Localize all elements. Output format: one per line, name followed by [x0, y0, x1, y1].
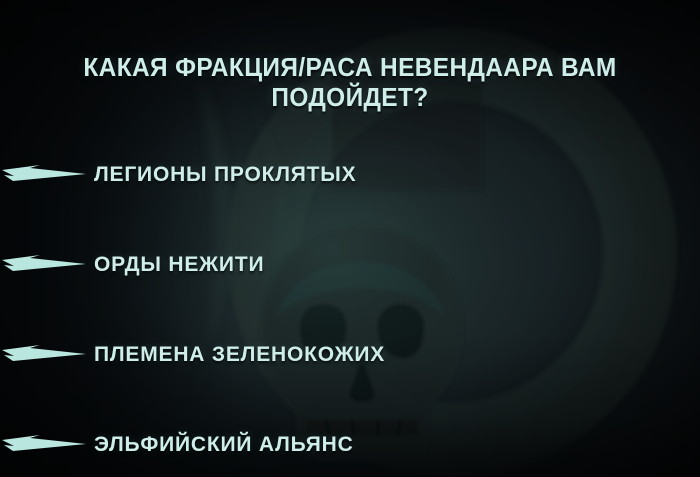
option-item-0[interactable]: ЛЕГИОНЫ ПРОКЛЯТЫХ	[0, 130, 700, 220]
option-item-2[interactable]: ПЛЕМЕНА ЗЕЛЕНОКОЖИХ	[0, 310, 700, 400]
arrow-right-icon	[0, 428, 86, 462]
option-list: ЛЕГИОНЫ ПРОКЛЯТЫХ ОРДЫ НЕЖИТИ ПЛЕМЕНА ЗЕ…	[0, 130, 700, 477]
arrow-right-icon	[0, 248, 86, 282]
arrow-right-icon	[0, 158, 86, 192]
page-title: КАКАЯ ФРАКЦИЯ/РАСА НЕВЕНДААРА ВАМ ПОДОЙД…	[21, 52, 679, 112]
option-label-3: ЭЛЬФИЙСКИЙ АЛЬЯНС	[94, 433, 354, 457]
option-label-0: ЛЕГИОНЫ ПРОКЛЯТЫХ	[94, 163, 356, 187]
option-item-1[interactable]: ОРДЫ НЕЖИТИ	[0, 220, 700, 310]
quiz-poster: КАКАЯ ФРАКЦИЯ/РАСА НЕВЕНДААРА ВАМ ПОДОЙД…	[0, 0, 700, 477]
option-label-2: ПЛЕМЕНА ЗЕЛЕНОКОЖИХ	[94, 343, 385, 367]
arrow-right-icon	[0, 338, 86, 372]
option-label-1: ОРДЫ НЕЖИТИ	[94, 253, 264, 277]
option-item-3[interactable]: ЭЛЬФИЙСКИЙ АЛЬЯНС	[0, 400, 700, 477]
